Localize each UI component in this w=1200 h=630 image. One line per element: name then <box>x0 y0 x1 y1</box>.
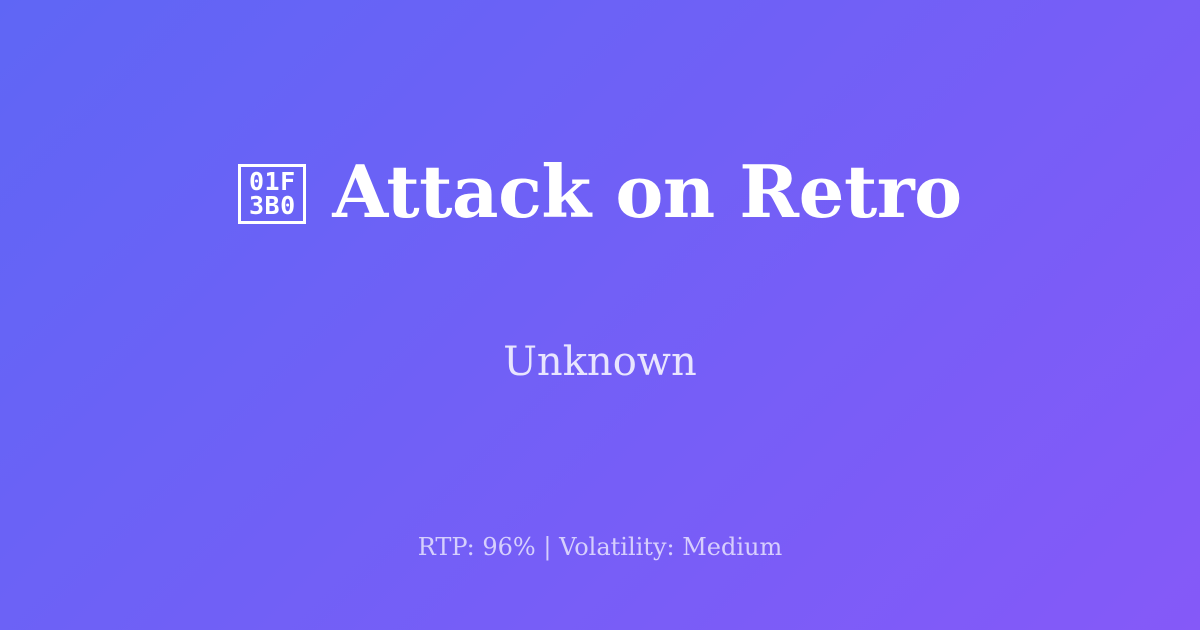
game-provider-subtitle: Unknown <box>503 340 697 384</box>
game-title: Attack on Retro <box>332 154 961 230</box>
og-share-card: 01F 3B0 Attack on Retro Unknown RTP: 96%… <box>0 0 1200 630</box>
title-row: 01F 3B0 Attack on Retro <box>238 106 961 279</box>
hero-block: 01F 3B0 Attack on Retro Unknown <box>0 0 1200 490</box>
game-stats-line: RTP: 96% | Volatility: Medium <box>0 533 1200 562</box>
slot-machine-emoji-icon-codepoint-low: 3B0 <box>249 194 296 219</box>
slot-machine-emoji-icon: 01F 3B0 <box>238 164 306 224</box>
